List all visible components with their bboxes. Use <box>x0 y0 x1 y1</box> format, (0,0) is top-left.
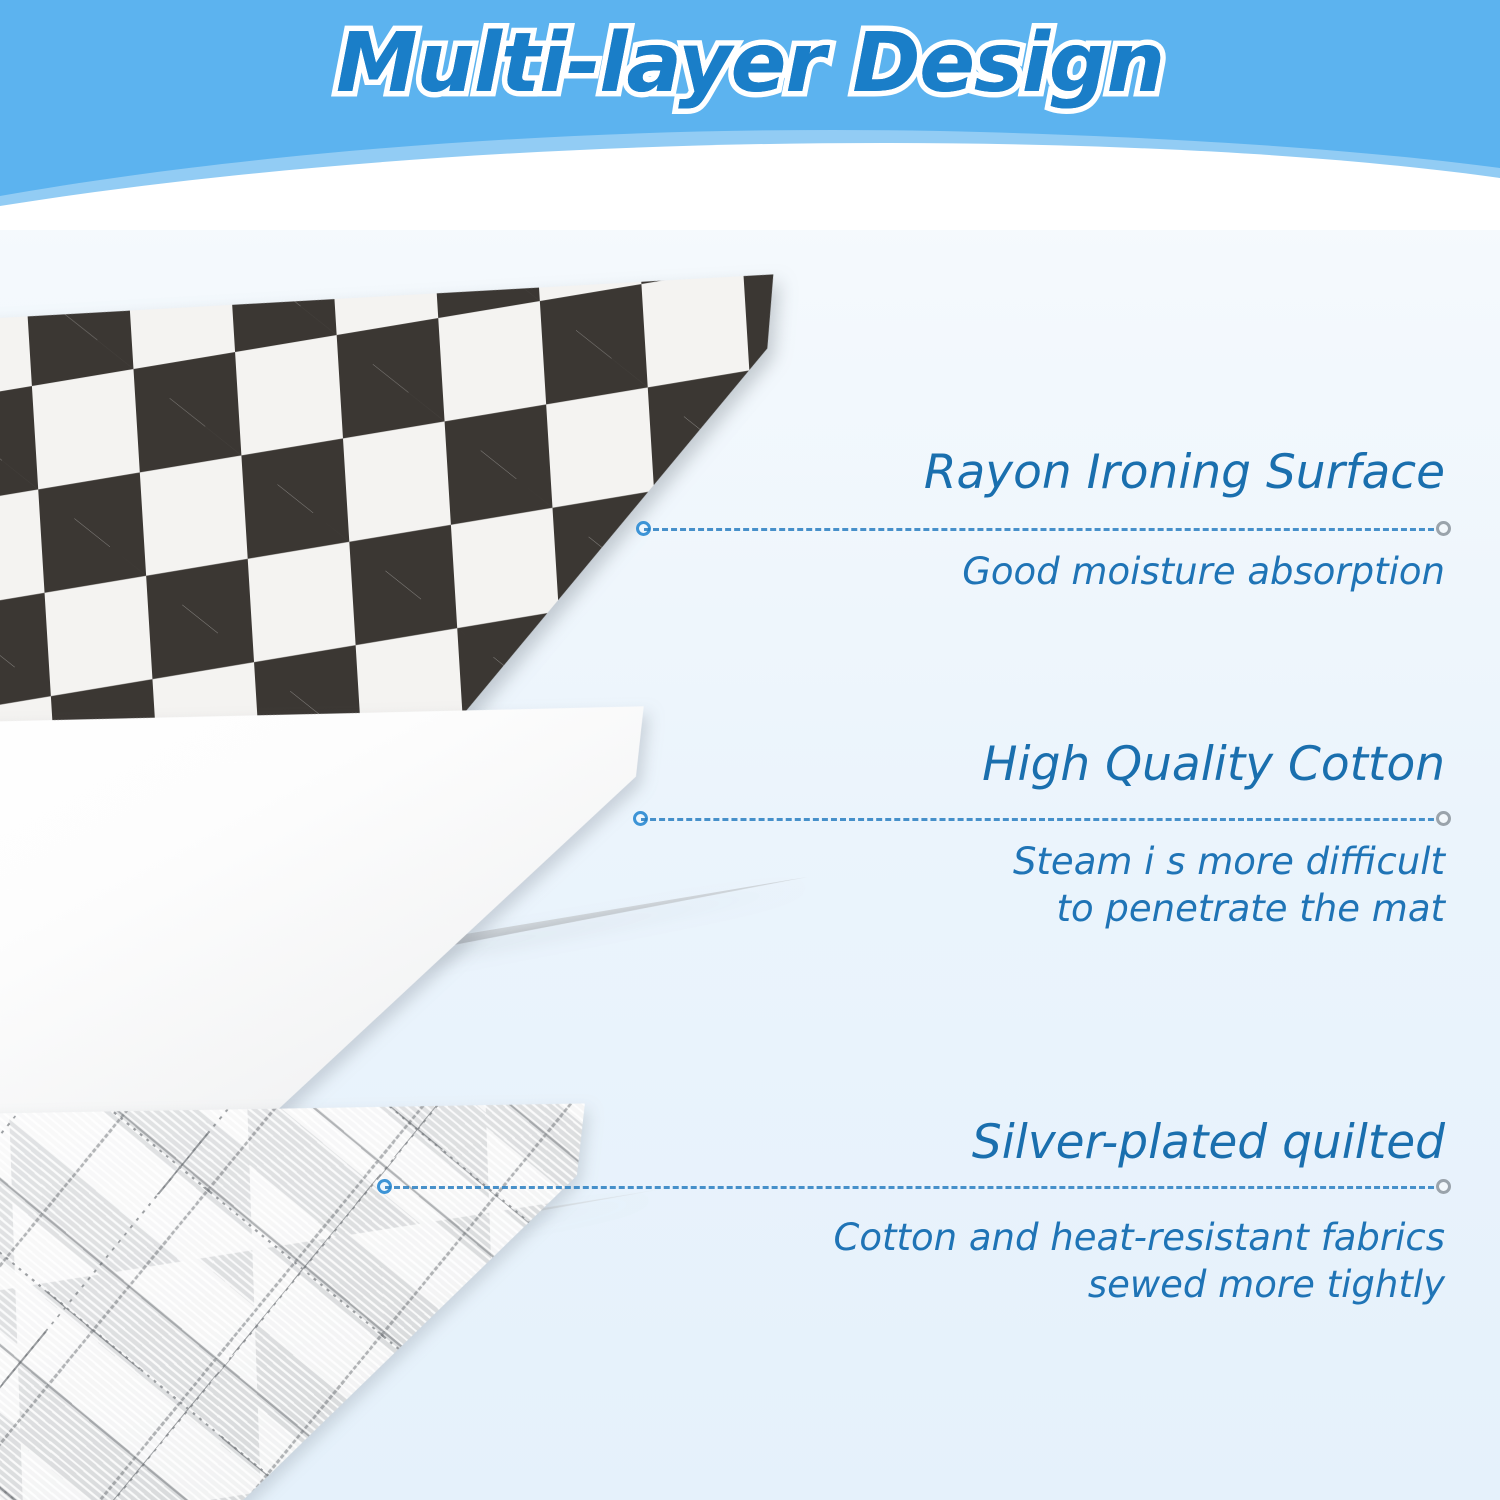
callout-quilted-subtext: Cotton and heat-resistant fabrics sewed … <box>780 1214 1445 1309</box>
callout-subtext-line: sewed more tightly <box>780 1261 1445 1308</box>
callout-heading: Rayon Ironing Surface <box>860 448 1445 497</box>
leader-dot-right-icon <box>1436 811 1451 826</box>
callout-high-quality-cotton: High Quality Cotton <box>860 740 1460 789</box>
callout-heading: Silver-plated quilted <box>860 1118 1445 1167</box>
product-layer-illustration <box>0 300 860 1500</box>
leader-dash <box>641 818 1443 821</box>
leader-line-cotton <box>633 811 1451 827</box>
leader-dot-right-icon <box>1436 1179 1451 1194</box>
leader-line-quilted <box>377 1179 1451 1195</box>
callout-heading: High Quality Cotton <box>860 740 1445 789</box>
leader-dash <box>644 528 1443 531</box>
leader-dot-right-icon <box>1436 521 1451 536</box>
callout-rayon-ironing-surface: Rayon Ironing Surface <box>860 448 1460 497</box>
callout-subtext-line: to penetrate the mat <box>860 885 1445 932</box>
callout-silver-plated-quilted: Silver-plated quilted <box>860 1118 1460 1167</box>
callout-rayon-subtext: Good moisture absorption <box>860 548 1445 595</box>
infographic-canvas: Multi-layer Design Multi-layer Design Ra… <box>0 0 1500 1500</box>
callout-subtext-line: Cotton and heat-resistant fabrics <box>780 1214 1445 1261</box>
silver-quilted-layer <box>0 955 604 1500</box>
callout-subtext-line: Good moisture absorption <box>860 548 1445 595</box>
callout-subtext-line: Steam i s more difficult <box>860 838 1445 885</box>
quilted-stitch-dots <box>0 955 604 1500</box>
callout-cotton-subtext: Steam i s more difficult to penetrate th… <box>860 838 1445 933</box>
page-title: Multi-layer Design <box>0 16 1500 111</box>
leader-dash <box>385 1186 1443 1189</box>
leader-line-rayon <box>636 521 1451 537</box>
